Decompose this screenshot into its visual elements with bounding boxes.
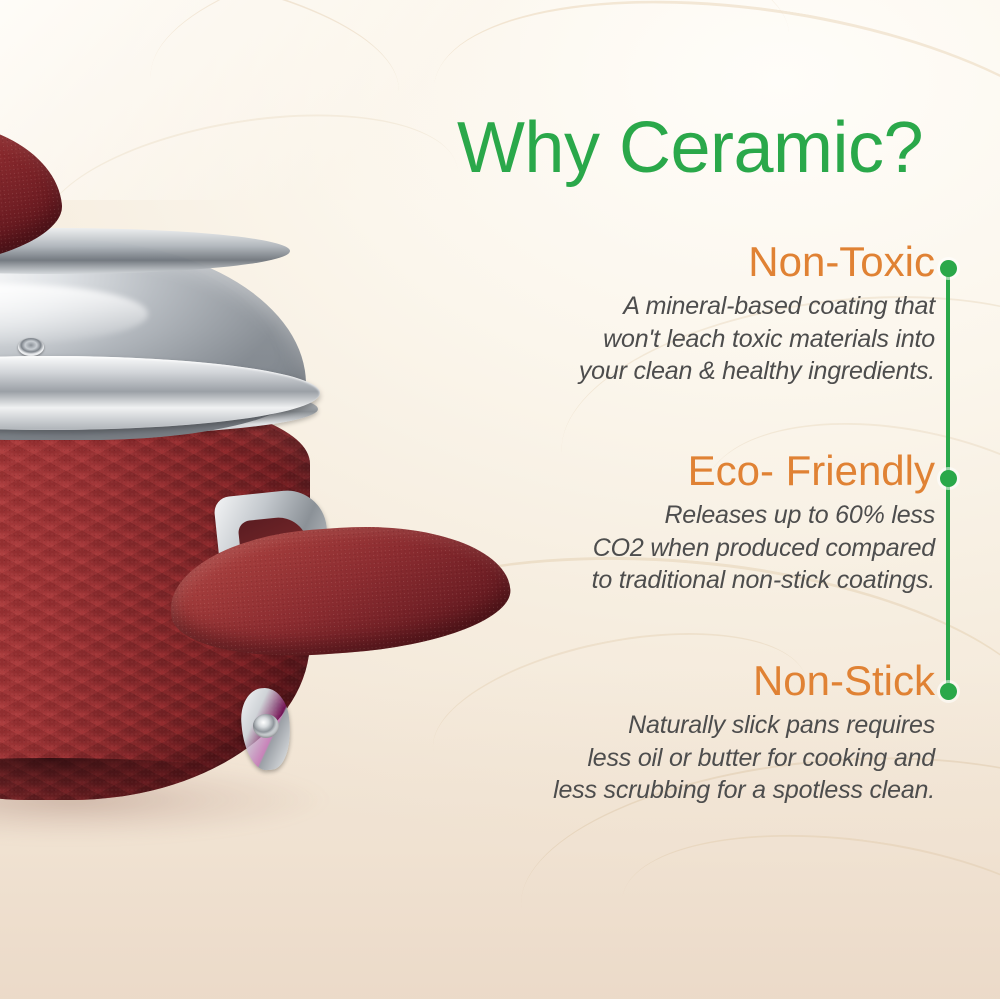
lid-steam-vent [18, 338, 44, 356]
lid-upper-band [0, 228, 290, 274]
feature-block-non-stick: Non-Stick Naturally slick pans requires … [455, 659, 935, 807]
page-title: Why Ceramic? [410, 112, 970, 184]
infographic-canvas: Why Ceramic? Non-Toxic A mineral-based c… [0, 0, 1000, 999]
product-image-cookware-pot [0, 120, 470, 880]
feature-block-non-toxic: Non-Toxic A mineral-based coating that w… [455, 240, 935, 388]
feature-body-line: to traditional non-stick coatings. [455, 564, 935, 597]
feature-body-line: less oil or butter for cooking and [455, 742, 935, 775]
feature-body-line: won't leach toxic materials into [455, 323, 935, 356]
feature-body-non-toxic: A mineral-based coating that won't leach… [455, 290, 935, 388]
feature-body-line: Naturally slick pans requires [455, 709, 935, 742]
feature-body-line: less scrubbing for a spotless clean. [455, 774, 935, 807]
feature-title-eco-friendly: Eco- Friendly [455, 449, 935, 493]
lid-specular-highlight [0, 284, 148, 344]
feature-body-non-stick: Naturally slick pans requires less oil o… [455, 709, 935, 807]
feature-title-non-stick: Non-Stick [455, 659, 935, 703]
feature-body-eco-friendly: Releases up to 60% less CO2 when produce… [455, 499, 935, 597]
feature-body-line: A mineral-based coating that [455, 290, 935, 323]
feature-body-line: CO2 when produced compared [455, 532, 935, 565]
feature-body-line: Releases up to 60% less [455, 499, 935, 532]
feature-block-eco-friendly: Eco- Friendly Releases up to 60% less CO… [455, 449, 935, 597]
timeline-node-eco-friendly [940, 470, 957, 487]
side-handle-rivet-bolt [253, 714, 279, 738]
feature-title-non-toxic: Non-Toxic [455, 240, 935, 284]
timeline-node-non-stick [940, 683, 957, 700]
feature-body-line: your clean & healthy ingredients. [455, 355, 935, 388]
timeline-node-non-toxic [940, 260, 957, 277]
